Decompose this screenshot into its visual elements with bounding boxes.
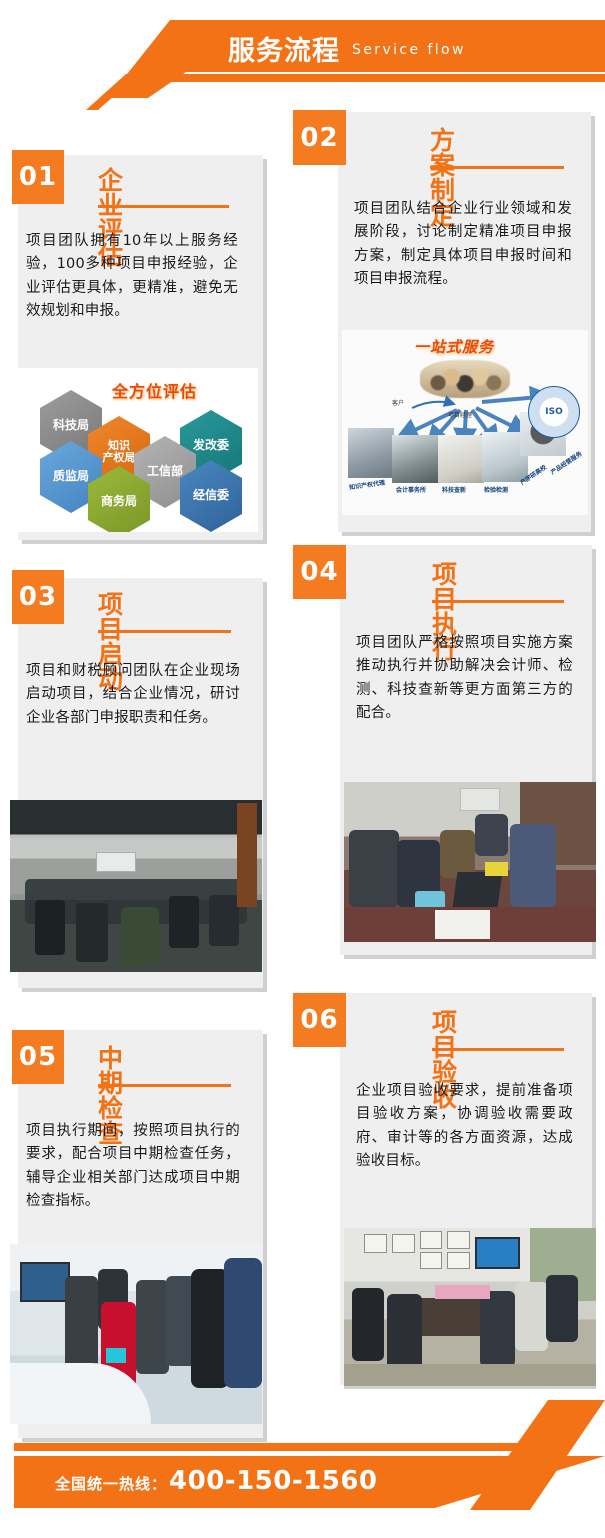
- title-underline: [430, 166, 564, 169]
- title-underline: [432, 1048, 564, 1051]
- hex-node-label: 质监局: [53, 470, 89, 483]
- iso-seal-label: ISO: [545, 407, 562, 417]
- step-number-badge: 03: [12, 570, 64, 624]
- service-label-manager: 项目经理: [448, 410, 472, 419]
- footer-accent-line: [14, 1443, 569, 1451]
- card-body-text: 项目团队拥有10年以上服务经验，100多种项目申报经验，企业评估更具体，更精准，…: [26, 230, 238, 324]
- title-underline: [432, 600, 564, 603]
- branch-thumb-0: [348, 428, 394, 478]
- hexagon-diagram-title: 全方位评估: [112, 378, 197, 402]
- page-title: 服务流程: [228, 38, 340, 65]
- step-number-badge: 06: [293, 993, 346, 1047]
- card-photo: 会议室团队启动会照片: [10, 800, 262, 972]
- title-underline: [98, 630, 231, 633]
- service-flow-infographic: 服务流程 Service flow 01 企业评估 项目团队拥有10年以上服务经…: [0, 0, 605, 1538]
- branch-thumb-1: [392, 435, 440, 483]
- step-number-badge: 01: [12, 150, 64, 204]
- hex-node-label: 工信部: [147, 465, 183, 478]
- hotline-number: 400-150-1560: [169, 1466, 378, 1496]
- branch-label-2: 科技查新: [442, 485, 466, 494]
- service-label-customer: 客户: [392, 398, 404, 407]
- card-photo: 长条会议桌验收会议照片: [344, 1228, 596, 1386]
- one-stop-service-diagram: 一站式服务 客户 项目经理: [342, 330, 588, 515]
- hotline-label: 全国统一热线：: [55, 1473, 167, 1494]
- card-photo: 会议桌前多人使用笔记本电脑办公照片: [344, 782, 596, 942]
- card-body-text: 项目团队严格按照项目实施方案推动执行并协助解决会计师、检测、科技查新等更方面第三…: [356, 632, 573, 726]
- hex-node-label: 知识 产权局: [103, 440, 136, 465]
- header-wedge-shape: [86, 74, 605, 110]
- hex-node-label: 商务局: [101, 495, 137, 508]
- hex-node-label: 经信委: [193, 489, 229, 502]
- footer-hotline[interactable]: 全国统一热线： 400-150-1560: [55, 1466, 378, 1496]
- card-photo: 展厅前站立人群参观照片: [10, 1244, 262, 1424]
- page-header: 服务流程 Service flow: [0, 0, 605, 110]
- hex-node-label: 发改委: [193, 439, 229, 452]
- branch-label-1: 会计事务所: [396, 485, 426, 494]
- title-underline: [98, 205, 229, 208]
- branch-thumb-2: [438, 435, 484, 483]
- card-body-text: 项目团队结合企业行业领域和发展阶段，讨论制定精准项目申报方案，制定具体项目申报时…: [354, 198, 572, 292]
- card-body-text: 企业项目验收要求，提前准备项目验收方案，协调验收需要政府、审计等的各方面资源，达…: [356, 1080, 573, 1174]
- branch-label-3: 检验检测: [484, 485, 508, 494]
- step-number-badge: 05: [12, 1030, 64, 1084]
- header-title-group: 服务流程 Service flow: [228, 30, 466, 72]
- assessment-hexagon-diagram: 全方位评估 科技局 知识 产权局 发改委 质监局 工信部 经信委 商务局: [18, 368, 258, 532]
- step-number-badge: 02: [293, 110, 346, 165]
- title-underline: [98, 1084, 231, 1087]
- page-subtitle: Service flow: [352, 43, 466, 59]
- step-number-badge: 04: [293, 545, 346, 599]
- card-body-text: 项目和财税顾问团队在企业现场启动项目，结合企业情况，研讨企业各部门申报职责和任务…: [26, 660, 240, 730]
- iso-seal-icon: ISO: [528, 386, 580, 438]
- card-body-text: 项目执行期间，按照项目执行的要求，配合项目中期检查任务，辅导企业相关部门达成项目…: [26, 1120, 240, 1214]
- hex-node-label: 科技局: [53, 419, 89, 432]
